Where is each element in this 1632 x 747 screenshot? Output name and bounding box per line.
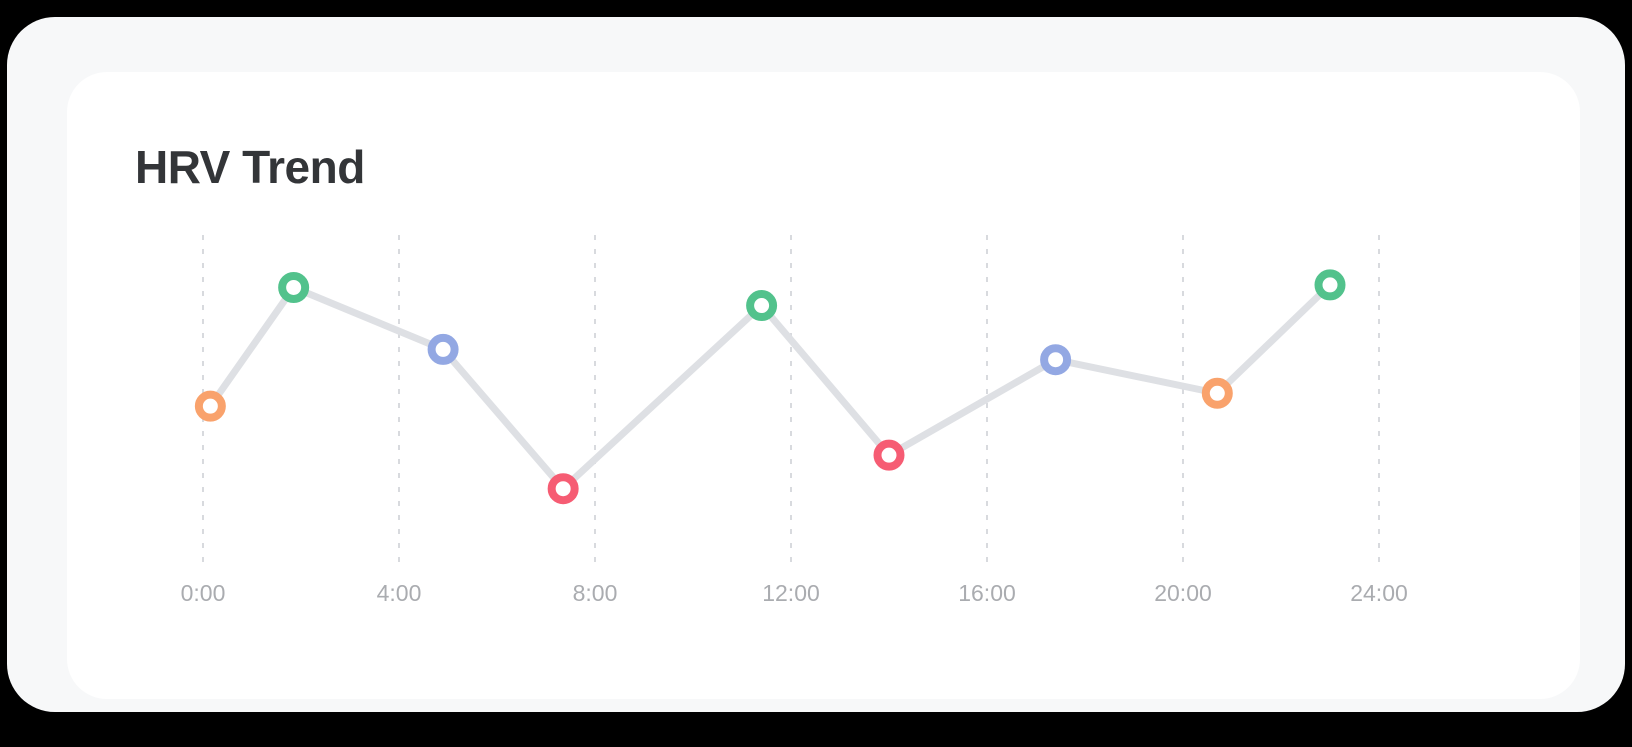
data-point-7-orange[interactable] bbox=[1206, 382, 1229, 405]
outer-panel: HRV Trend 0:004:008:0012:0016:0020:0024:… bbox=[7, 17, 1625, 712]
data-point-5-red[interactable] bbox=[878, 444, 901, 467]
data-point-4-green[interactable] bbox=[750, 294, 773, 317]
data-point-8-green[interactable] bbox=[1319, 273, 1342, 296]
data-point-2-blue[interactable] bbox=[432, 338, 455, 361]
data-point-1-green[interactable] bbox=[282, 276, 305, 299]
data-point-6-blue[interactable] bbox=[1044, 348, 1067, 371]
x-tick-label-20-00: 20:00 bbox=[1154, 582, 1212, 605]
data-point-0-orange[interactable] bbox=[199, 395, 222, 418]
data-point-3-red[interactable] bbox=[552, 477, 575, 500]
x-tick-label-4-00: 4:00 bbox=[377, 582, 422, 605]
hrv-trend-card: HRV Trend 0:004:008:0012:0016:0020:0024:… bbox=[67, 72, 1580, 699]
x-tick-label-16-00: 16:00 bbox=[958, 582, 1016, 605]
x-tick-label-8-00: 8:00 bbox=[573, 582, 618, 605]
screen: HRV Trend 0:004:008:0012:0016:0020:0024:… bbox=[0, 0, 1632, 747]
chart-gridlines bbox=[203, 235, 1379, 562]
x-tick-label-24-00: 24:00 bbox=[1350, 582, 1408, 605]
x-tick-label-12-00: 12:00 bbox=[762, 582, 820, 605]
x-tick-label-0-00: 0:00 bbox=[181, 582, 226, 605]
